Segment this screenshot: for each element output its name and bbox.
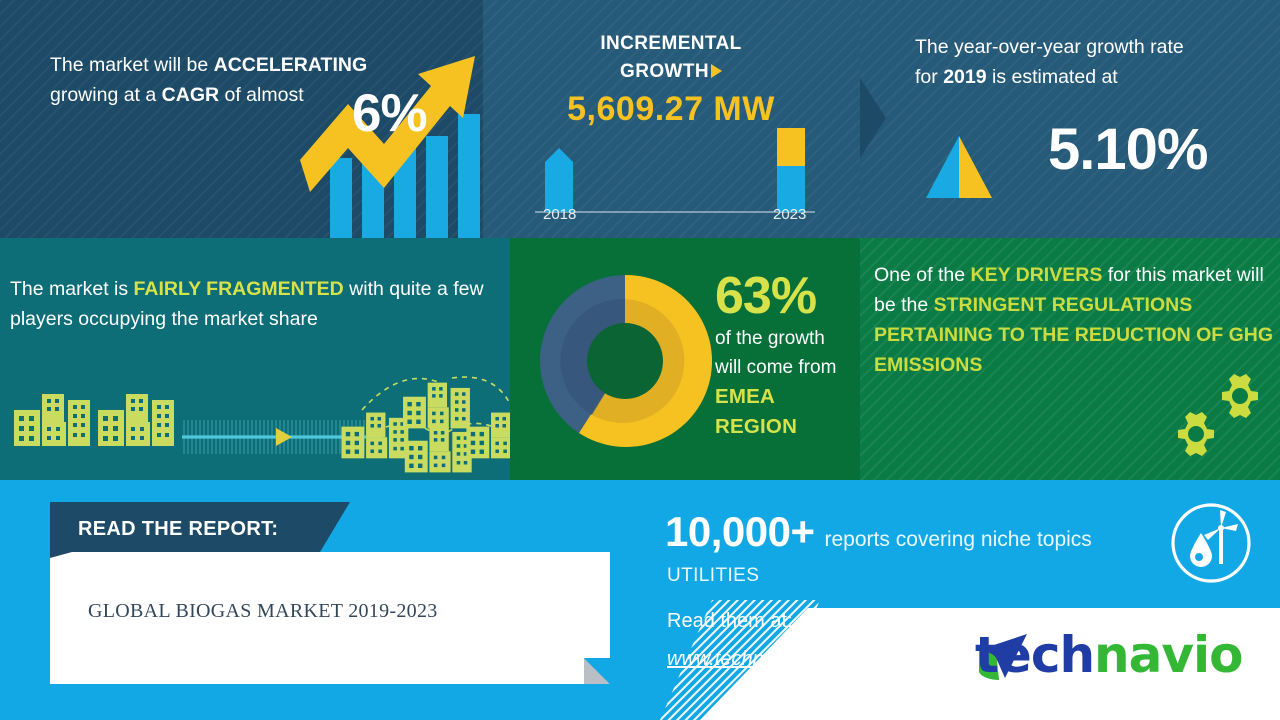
report-category: UTILITIES <box>667 565 759 587</box>
reports-count-caption: reports covering niche topics <box>825 528 1092 551</box>
drivers-statement: One of the KEY DRIVERS for this market w… <box>874 260 1274 380</box>
yoy-value: 5.10% <box>1048 116 1207 183</box>
technavio-word-navio: navio <box>1094 626 1242 684</box>
donut-hole <box>587 323 663 399</box>
cagr-line2-plain-a: growing at a <box>50 84 162 106</box>
panel-notch-chevron <box>860 78 886 158</box>
emea-percent: 63% <box>715 268 855 324</box>
yoy-line1: The year-over-year growth rate <box>915 36 1184 58</box>
axis-label-2018: 2018 <box>543 206 576 223</box>
infographic-root: The market will be ACCELERATING growing … <box>0 0 1280 720</box>
emea-line2: will come from <box>715 353 855 382</box>
emea-line3: EMEA REGION <box>715 382 855 442</box>
technavio-word-tech: tech <box>975 626 1094 684</box>
report-card[interactable]: GLOBAL BIOGAS MARKET 2019-2023 <box>50 552 610 684</box>
panel-key-drivers: One of the KEY DRIVERS for this market w… <box>860 238 1280 480</box>
gears-icon <box>1160 366 1272 466</box>
wind-turbine-water-drop-icon <box>1168 500 1254 586</box>
reports-count: 10,000+ <box>665 508 815 555</box>
page-fold-corner-icon <box>584 658 610 684</box>
drivers-highlight2: STRINGENT REGULATIONS PERTAINING TO THE … <box>874 294 1273 376</box>
growth-triangle-icon <box>922 136 996 198</box>
play-triangle-icon <box>711 64 722 78</box>
fragmented-part1: The market is <box>10 278 134 300</box>
cagr-line1-plain: The market will be <box>50 54 214 76</box>
emea-line1: of the growth <box>715 324 855 353</box>
emea-statement: 63% of the growth will come from EMEA RE… <box>715 268 855 442</box>
cagr-line1-bold: ACCELERATING <box>214 54 367 76</box>
incremental-title-line1: INCREMENTAL <box>600 33 741 54</box>
drivers-part1: One of the <box>874 264 970 286</box>
yoy-line2-bold: 2019 <box>943 66 986 88</box>
fragmented-highlight: FAIRLY FRAGMENTED <box>134 278 344 300</box>
panel-cagr: The market will be ACCELERATING growing … <box>0 0 483 238</box>
report-title: GLOBAL BIOGAS MARKET 2019-2023 <box>88 600 438 623</box>
panel-emea-share: 63% of the growth will come from EMEA RE… <box>510 238 860 480</box>
yoy-line2-plain-b: is estimated at <box>987 66 1118 88</box>
incremental-growth-value: 5,609.27 MW <box>491 90 851 129</box>
incremental-title-line2: GROWTH <box>620 61 709 82</box>
fragmented-statement: The market is FAIRLY FRAGMENTED with qui… <box>10 274 490 334</box>
panel-yoy-growth: The year-over-year growth rate for 2019 … <box>860 0 1280 238</box>
yoy-line2-plain-a: for <box>915 66 943 88</box>
bar-2018 <box>545 148 573 212</box>
drivers-highlight1: KEY DRIVERS <box>970 264 1102 286</box>
panel-incremental-growth: INCREMENTAL GROWTH 5,609.27 MW 2018 2023 <box>483 0 860 238</box>
yoy-statement: The year-over-year growth rate for 2019 … <box>915 32 1255 92</box>
read-the-report-label: READ THE REPORT: <box>78 518 278 541</box>
city-buildings-network-icon <box>0 358 510 478</box>
technavio-wordmark: technavio <box>975 626 1242 684</box>
panel-market-fragmented: The market is FAIRLY FRAGMENTED with qui… <box>0 238 510 480</box>
cagr-value: 6% <box>352 83 427 144</box>
cagr-line2-plain-b: of almost <box>219 84 304 106</box>
incremental-growth-title: INCREMENTAL GROWTH <box>491 30 851 86</box>
emea-donut-chart <box>535 271 715 451</box>
bar-2023-increment <box>777 128 805 166</box>
reports-count-line: 10,000+reports covering niche topics <box>665 508 1092 556</box>
axis-label-2023: 2023 <box>773 206 806 223</box>
cagr-line2-bold: CAGR <box>162 84 219 106</box>
